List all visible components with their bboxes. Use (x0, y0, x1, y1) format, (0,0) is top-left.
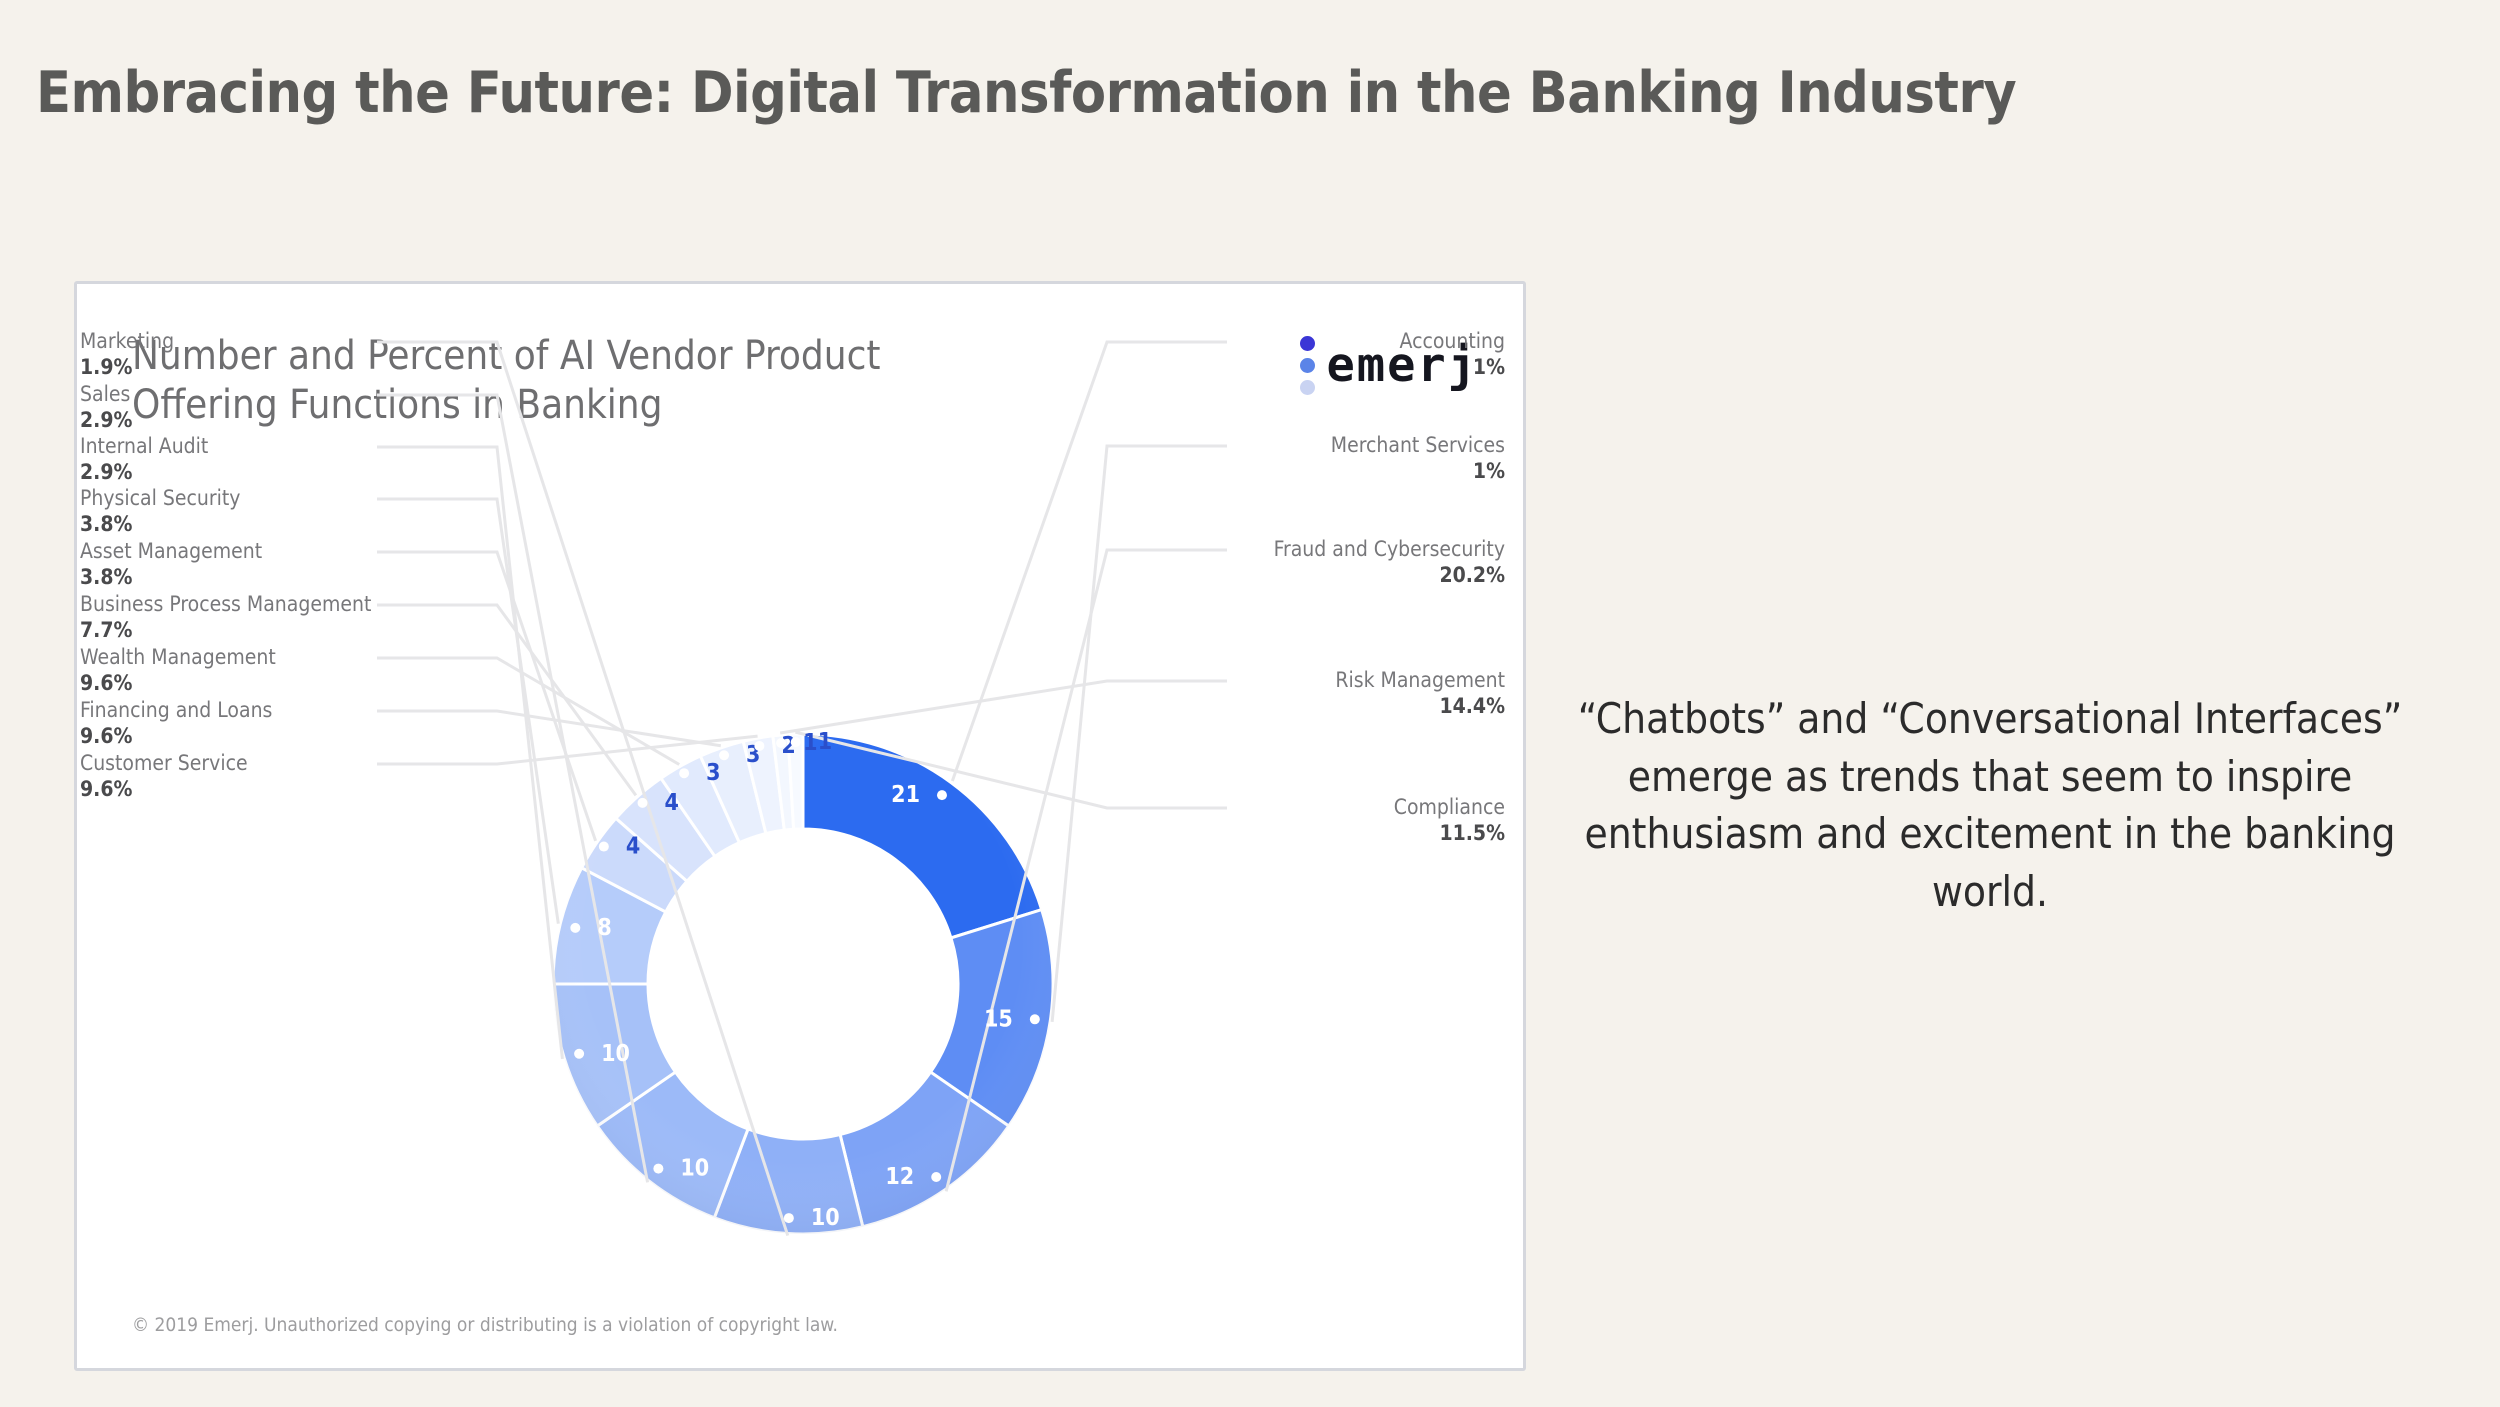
callout-customer-service: Customer Service 9.6% (80, 750, 248, 803)
slice-value-label: 21 (891, 782, 920, 808)
callout-internal-audit: Internal Audit 2.9% (80, 433, 208, 486)
copyright-notice: © 2019 Emerj. Unauthorized copying or di… (132, 1314, 838, 1336)
slice-anchor-dot (638, 798, 648, 808)
callout-label: Customer Service (80, 750, 248, 776)
callout-physical-security: Physical Security 3.8% (80, 485, 240, 538)
slice-value-label: 10 (601, 1041, 630, 1067)
slice-anchor-dot (599, 842, 609, 852)
callout-percent: 9.6% (80, 776, 248, 802)
chart-card: Number and Percent of AI Vendor Product … (74, 281, 1526, 1371)
slice-value-label: 1 (818, 729, 832, 755)
slice-anchor-dot (1030, 1014, 1040, 1024)
slice-value-label: 3 (706, 760, 720, 786)
callout-label: Compliance (1394, 794, 1505, 820)
callout-label: Asset Management (80, 538, 262, 564)
leader-line (952, 342, 1227, 781)
page-title: Embracing the Future: Digital Transforma… (36, 60, 2016, 126)
callout-percent: 1% (1331, 458, 1505, 484)
callout-accounting: Accounting 1% (1400, 328, 1505, 381)
slice-value-label: 12 (885, 1164, 914, 1190)
callout-percent: 9.6% (80, 670, 276, 696)
slice-anchor-dot (784, 1213, 794, 1223)
callout-wealth-management: Wealth Management 9.6% (80, 644, 276, 697)
callout-sales: Sales 2.9% (80, 381, 132, 434)
callout-label: Physical Security (80, 485, 240, 511)
slice-anchor-dot (776, 738, 786, 748)
slice-value-label: 10 (680, 1156, 709, 1182)
callout-label: Merchant Services (1331, 432, 1505, 458)
slice-anchor-dot (719, 750, 729, 760)
callout-label: Business Process Management (80, 591, 371, 617)
donut-chart: 21151210101084433211 Marketing 1.9% Sale… (77, 284, 1529, 1374)
callout-label: Sales (80, 381, 132, 407)
callout-merchant-services: Merchant Services 1% (1331, 432, 1505, 485)
slice-anchor-dot (937, 790, 947, 800)
callout-percent: 3.8% (80, 511, 240, 537)
slice-anchor-dot (653, 1164, 663, 1174)
callout-label: Marketing (80, 328, 174, 354)
callout-fraud-and-cybersecurity: Fraud and Cybersecurity 20.2% (1274, 536, 1505, 589)
donut-slices (553, 734, 1053, 1234)
callout-percent: 7.7% (80, 617, 371, 643)
callout-financing-and-loans: Financing and Loans 9.6% (80, 697, 272, 750)
slide-root: Embracing the Future: Digital Transforma… (0, 0, 2500, 1407)
slice-value-label: 10 (811, 1205, 840, 1231)
callout-percent: 20.2% (1274, 562, 1505, 588)
callout-percent: 2.9% (80, 407, 132, 433)
slice-anchor-dot (791, 737, 801, 747)
callout-label: Risk Management (1335, 667, 1505, 693)
slice-anchor-dot (754, 741, 764, 751)
callout-label: Internal Audit (80, 433, 208, 459)
callout-percent: 2.9% (80, 459, 208, 485)
callout-percent: 9.6% (80, 723, 272, 749)
callout-risk-management: Risk Management 14.4% (1335, 667, 1505, 720)
callout-percent: 1% (1400, 354, 1505, 380)
donut-svg: 21151210101084433211 (77, 284, 1529, 1374)
callout-asset-management: Asset Management 3.8% (80, 538, 262, 591)
callout-label: Wealth Management (80, 644, 276, 670)
callout-label: Financing and Loans (80, 697, 272, 723)
slice-anchor-dot (570, 923, 580, 933)
slice-value-label: 4 (665, 790, 679, 816)
slice-value-label: 15 (984, 1006, 1013, 1032)
callout-marketing: Marketing 1.9% (80, 328, 174, 381)
slice-value-label: 8 (597, 915, 611, 941)
slice-value-label: 4 (626, 834, 640, 860)
callout-percent: 3.8% (80, 564, 262, 590)
leader-line (780, 681, 1227, 733)
slice-value-label: 1 (803, 730, 817, 756)
slice-anchor-dot (931, 1172, 941, 1182)
leader-line (1052, 446, 1227, 1022)
slice-anchor-dot (679, 768, 689, 778)
callout-percent: 1.9% (80, 354, 174, 380)
callout-label: Accounting (1400, 328, 1505, 354)
slice-anchor-dot (574, 1049, 584, 1059)
callout-compliance: Compliance 11.5% (1394, 794, 1505, 847)
callout-business-process-management: Business Process Management 7.7% (80, 591, 371, 644)
donut-slice[interactable] (803, 734, 1042, 938)
callout-label: Fraud and Cybersecurity (1274, 536, 1505, 562)
pull-quote: “Chatbots” and “Conversational Interface… (1575, 690, 2405, 920)
callout-percent: 11.5% (1394, 820, 1505, 846)
callout-percent: 14.4% (1335, 693, 1505, 719)
leader-line (377, 711, 721, 746)
leader-line (377, 605, 636, 795)
